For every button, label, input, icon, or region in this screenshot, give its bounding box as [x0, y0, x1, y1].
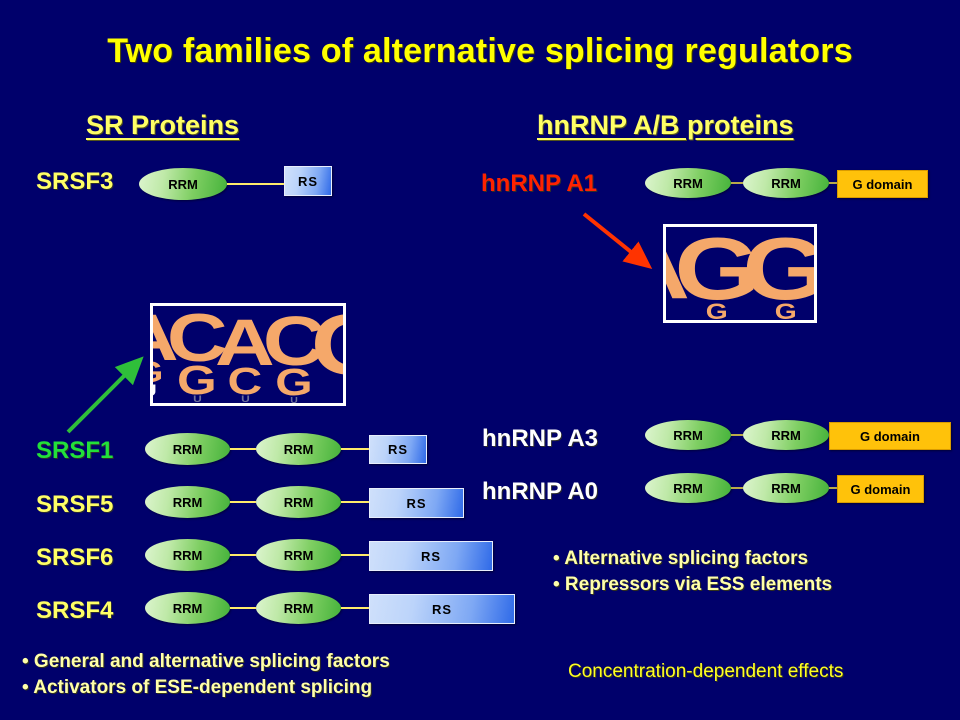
- protein-label-srsf6: SRSF6: [36, 544, 113, 572]
- logo-letter: G: [814, 235, 817, 284]
- logo-columns-hnrnp: UcAAGGGGGUCAU: [666, 227, 814, 320]
- logo-letter: U: [241, 396, 250, 403]
- logo-column: GG: [751, 227, 817, 320]
- domain-rrm[interactable]: RRM: [743, 168, 829, 198]
- arrow-sr-to-logo: [60, 350, 155, 440]
- domain-rs[interactable]: RS: [369, 594, 515, 624]
- domain-rrm[interactable]: RRM: [145, 592, 230, 624]
- footer-concentration-effects: Concentration-dependent effects: [568, 661, 843, 683]
- bullet-item: • Repressors via ESS elements: [553, 572, 832, 598]
- protein-label-hnrnp-a1: hnRNP A1: [481, 170, 597, 198]
- domain-connector: [341, 607, 369, 609]
- domain-rrm[interactable]: RRM: [645, 168, 731, 198]
- domain-connector: [341, 448, 369, 450]
- domain-rs[interactable]: RS: [369, 541, 493, 571]
- domain-g[interactable]: G domain: [837, 475, 924, 503]
- bullet-list-sr: • General and alternative splicing facto…: [22, 649, 390, 700]
- domain-connector: [341, 501, 369, 503]
- logo-letter: G: [706, 303, 728, 320]
- slide-canvas: Two families of alternative splicing reg…: [0, 0, 960, 720]
- domain-connector: [230, 554, 256, 556]
- domain-connector: [230, 607, 256, 609]
- domain-rrm[interactable]: RRM: [256, 433, 341, 465]
- bullet-item: • Activators of ESE-dependent splicing: [22, 675, 390, 701]
- logo-letter: C: [228, 367, 263, 396]
- domain-rs[interactable]: RS: [369, 435, 427, 464]
- domain-rrm[interactable]: RRM: [145, 433, 230, 465]
- logo-letter: U: [290, 397, 298, 403]
- domain-rs[interactable]: RS: [369, 488, 464, 518]
- domain-connector: [731, 487, 743, 489]
- page-title: Two families of alternative splicing reg…: [0, 32, 960, 71]
- domain-rrm[interactable]: RRM: [645, 420, 731, 450]
- domain-connector: [341, 554, 369, 556]
- domain-rrm[interactable]: RRM: [743, 420, 829, 450]
- logo-column: GG: [683, 227, 752, 320]
- domain-rrm[interactable]: RRM: [743, 473, 829, 503]
- domain-connector: [829, 487, 837, 489]
- domain-rrm[interactable]: RRM: [645, 473, 731, 503]
- domain-g[interactable]: G domain: [829, 422, 951, 450]
- domain-g[interactable]: G domain: [837, 170, 928, 198]
- bullet-item: • Alternative splicing factors: [553, 546, 832, 572]
- sequence-logo-hnrnp: UcAAGGGGGUCAU: [663, 224, 817, 323]
- arrow-hnrnp-to-logo: [578, 208, 663, 280]
- logo-letter: U: [342, 378, 346, 396]
- logo-letter: G: [775, 303, 797, 320]
- domain-rs[interactable]: RS: [284, 166, 332, 196]
- domain-rrm[interactable]: RRM: [256, 592, 341, 624]
- bullet-list-hnrnp: • Alternative splicing factors • Repress…: [553, 546, 832, 597]
- domain-connector: [227, 183, 284, 185]
- logo-letter: G: [177, 365, 217, 396]
- domain-rrm[interactable]: RRM: [145, 486, 230, 518]
- protein-label-srsf3: SRSF3: [36, 168, 113, 196]
- domain-rrm[interactable]: RRM: [145, 539, 230, 571]
- protein-label-srsf5: SRSF5: [36, 491, 113, 519]
- section-header-sr-proteins: SR Proteins: [86, 110, 239, 141]
- domain-connector: [731, 434, 743, 436]
- domain-connector: [829, 182, 837, 184]
- domain-rrm[interactable]: RRM: [139, 168, 227, 200]
- logo-column: GUU: [319, 306, 346, 403]
- logo-letter: A: [663, 301, 664, 320]
- protein-label-srsf1: SRSF1: [36, 437, 113, 465]
- logo-letter: G: [275, 368, 312, 397]
- logo-column: CGU: [173, 306, 222, 403]
- protein-label-hnrnp-a0: hnRNP A0: [482, 478, 598, 506]
- logo-columns-sr: CGAAGUCCGUACUCGUGUUAUG: [153, 306, 343, 403]
- domain-connector: [731, 182, 743, 184]
- logo-letter: U: [193, 396, 202, 403]
- domain-rrm[interactable]: RRM: [256, 486, 341, 518]
- domain-rrm[interactable]: RRM: [256, 539, 341, 571]
- section-header-hnrnp-proteins: hnRNP A/B proteins: [537, 110, 794, 141]
- protein-label-hnrnp-a3: hnRNP A3: [482, 425, 598, 453]
- protein-label-srsf4: SRSF4: [36, 597, 113, 625]
- domain-connector: [230, 448, 256, 450]
- logo-letter: G: [743, 235, 817, 303]
- logo-letter: G: [311, 313, 346, 379]
- sequence-logo-sr: CGAAGUCCGUACUCGUGUUAUG: [150, 303, 346, 406]
- bullet-item: • General and alternative splicing facto…: [22, 649, 390, 675]
- domain-connector: [230, 501, 256, 503]
